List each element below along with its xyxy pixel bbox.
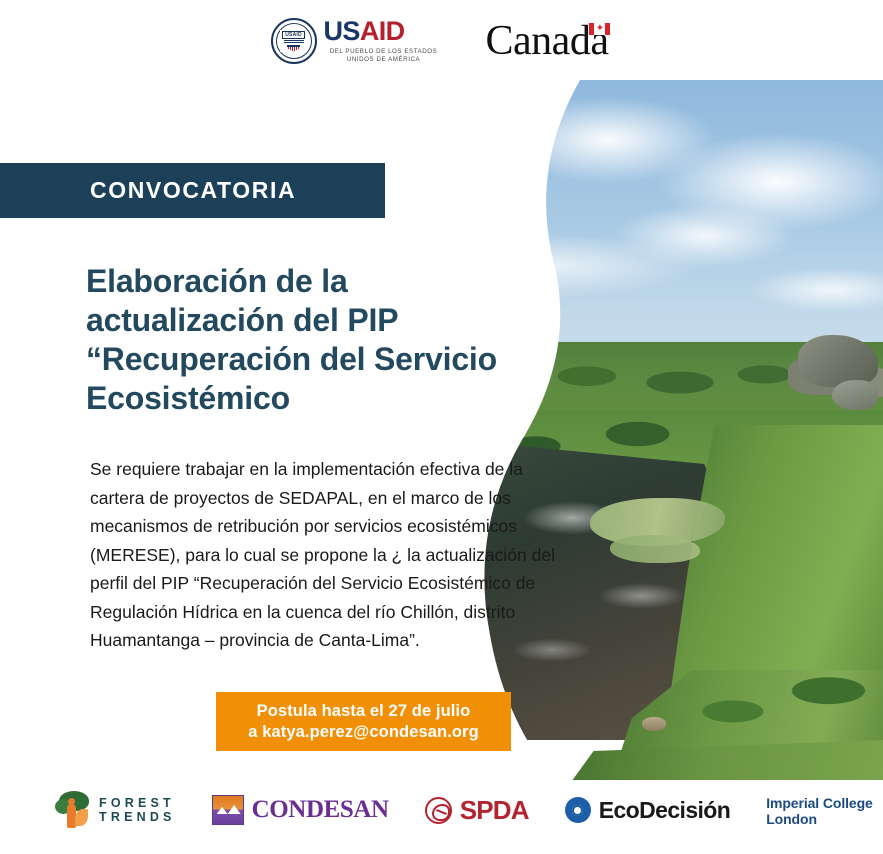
- canada-logo: Canada: [486, 20, 613, 62]
- usaid-word: USAID: [324, 18, 444, 45]
- ecodecision-logo: EcoDecisión: [565, 788, 730, 832]
- leaf-icon: [75, 809, 88, 826]
- photo-bottom-grass: [530, 740, 883, 790]
- canada-flag-icon: [589, 23, 610, 35]
- usaid-word-us: US: [324, 16, 360, 46]
- convocatoria-label: CONVOCATORIA: [90, 177, 296, 204]
- usaid-logo: USAID USAID DEL PUEBLO DE LOS ESTADOS UN…: [271, 18, 444, 64]
- convocatoria-banner: CONVOCATORIA: [0, 163, 385, 218]
- usaid-tagline: DEL PUEBLO DE LOS ESTADOS UNIDOS DE AMÉR…: [324, 48, 444, 64]
- tree-person-icon: [55, 791, 91, 829]
- condesan-logo: CONDESAN: [212, 788, 389, 832]
- hero-photo: [460, 80, 883, 794]
- usaid-seal-label: USAID: [282, 31, 305, 39]
- footer-logo-strip: FOREST TRENDS CONDESAN SPDA EcoDecisión …: [0, 788, 883, 854]
- mountain-sun-icon: [212, 795, 244, 825]
- apply-cta-button[interactable]: Postula hasta el 27 de julio a katya.per…: [216, 692, 511, 751]
- page-title: Elaboración de la actualización del PIP …: [86, 262, 516, 418]
- usaid-eagle-icon: [284, 40, 304, 44]
- ecodecision-wordmark: EcoDecisión: [599, 797, 730, 824]
- usaid-seal-inner: USAID: [280, 30, 307, 52]
- imperial-college-london-logo: Imperial College London: [766, 788, 873, 832]
- imperial-wordmark: Imperial College London: [766, 795, 873, 827]
- usaid-word-aid: AID: [360, 16, 405, 46]
- spda-logo: SPDA: [425, 788, 529, 832]
- imperial-line2: London: [766, 811, 873, 827]
- photo-stone: [642, 717, 666, 731]
- condesan-wordmark: CONDESAN: [252, 796, 389, 824]
- photo-sky: [460, 80, 883, 380]
- forest-trends-logo: FOREST TRENDS: [55, 788, 176, 832]
- ecodecision-circle-icon: [565, 797, 591, 823]
- forest-trends-line2: TRENDS: [99, 810, 176, 824]
- description-paragraph: Se requiere trabajar en la implementació…: [90, 455, 570, 655]
- photo-algae-patch-small: [610, 535, 700, 563]
- usaid-wordmark: USAID DEL PUEBLO DE LOS ESTADOS UNIDOS D…: [324, 18, 444, 64]
- spda-globe-icon: [425, 797, 452, 824]
- cta-email-line: a katya.perez@condesan.org: [248, 722, 479, 743]
- forest-trends-line1: FOREST: [99, 796, 176, 810]
- usaid-seal-icon: USAID: [271, 18, 317, 64]
- cta-deadline-line: Postula hasta el 27 de julio: [257, 701, 471, 722]
- photo-rock-small: [832, 380, 878, 410]
- spda-wordmark: SPDA: [460, 795, 529, 826]
- partner-logo-bar: USAID USAID DEL PUEBLO DE LOS ESTADOS UN…: [0, 0, 883, 82]
- forest-trends-wordmark: FOREST TRENDS: [99, 796, 176, 824]
- imperial-line1: Imperial College: [766, 795, 873, 811]
- usaid-shield-icon: [287, 45, 300, 52]
